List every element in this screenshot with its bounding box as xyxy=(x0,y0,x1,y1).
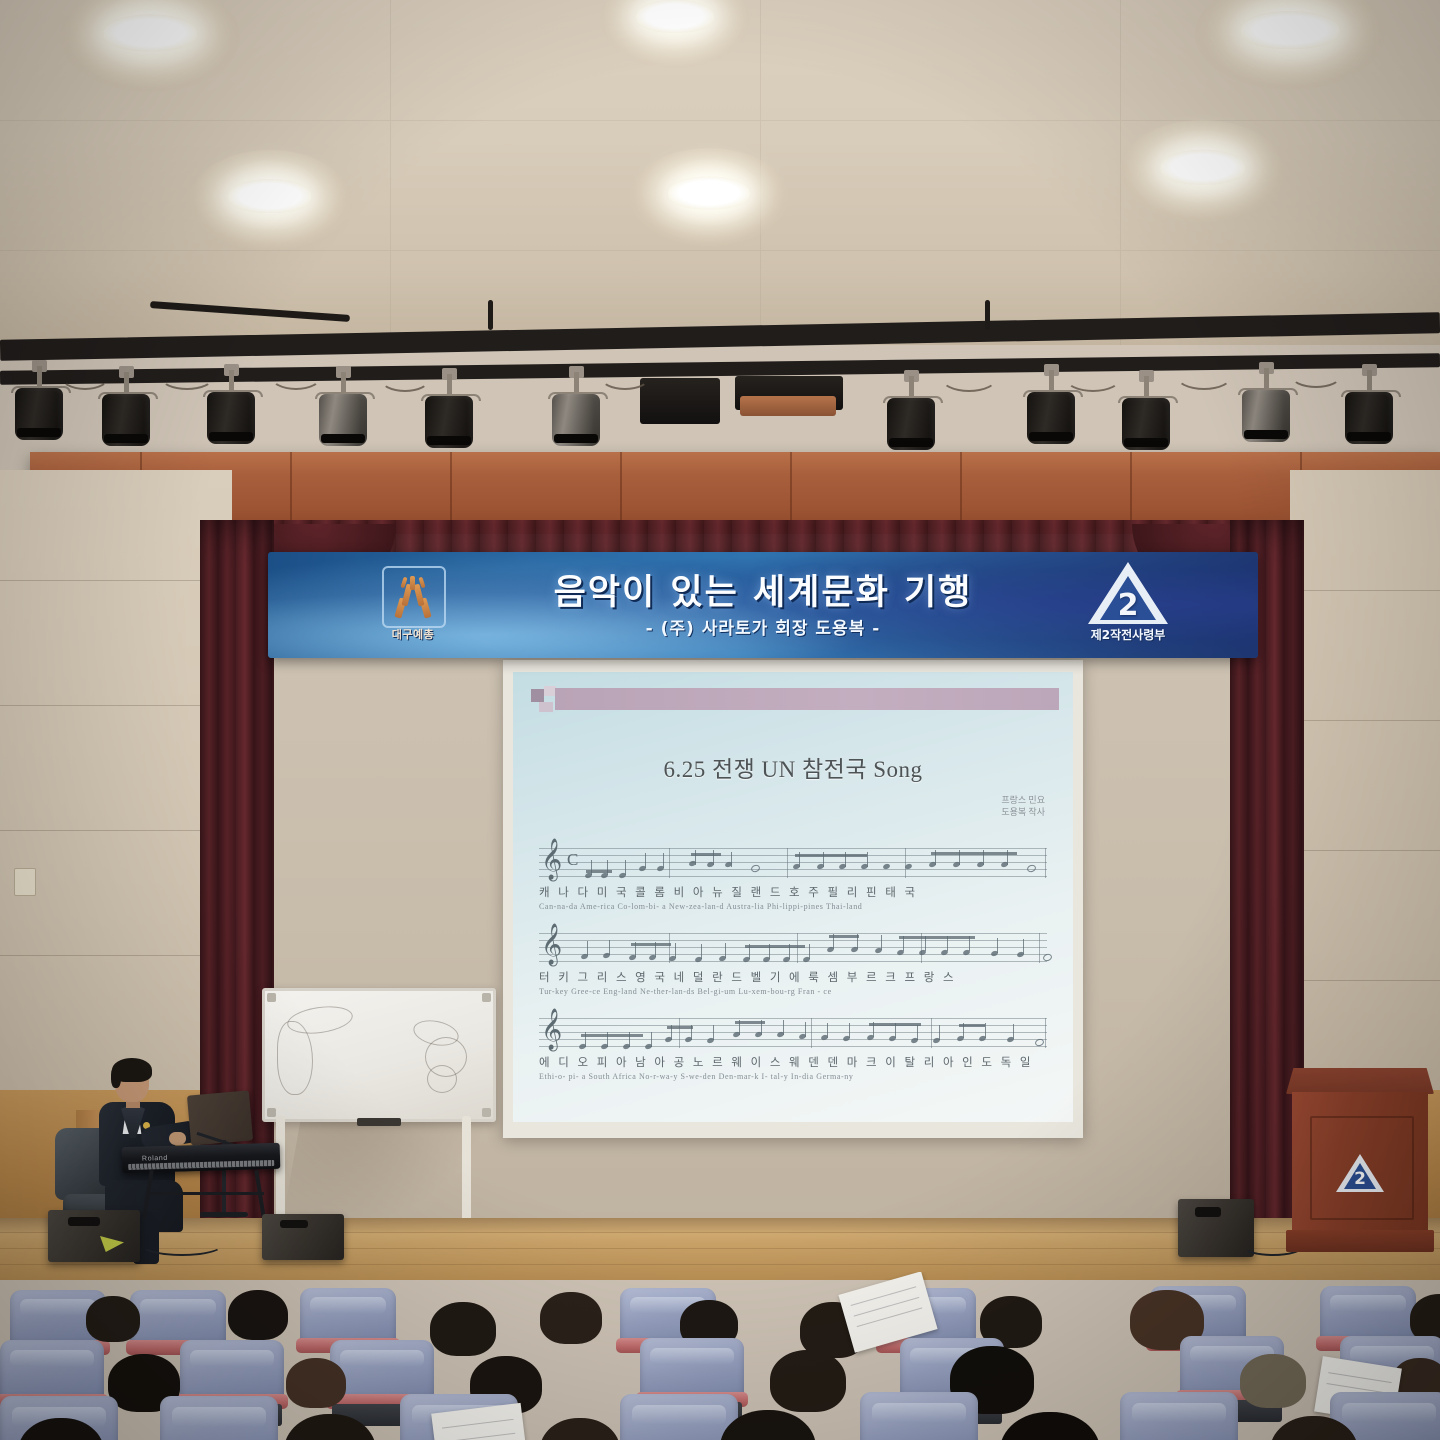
stage-monitor-speaker xyxy=(48,1210,140,1262)
treble-clef-icon: 𝄞 xyxy=(541,842,562,878)
light-cable xyxy=(600,364,650,390)
staff-3-lyrics-romanized: Ethi-o- pi- a South Africa No-r-wa-y S-w… xyxy=(539,1072,1047,1081)
audience-head xyxy=(228,1290,288,1340)
keyboard-brand-label: Roland xyxy=(142,1155,168,1163)
music-stand xyxy=(187,1090,253,1145)
staff-1-lyrics-korean: 캐 나 다 미 국 콜 롬 비 아 뉴 질 랜 드 호 주 필 리 핀 태 국 xyxy=(539,884,1047,900)
whiteboard-marker-tray xyxy=(357,1118,401,1126)
ceiling-conduit xyxy=(150,301,350,322)
slide-header-decoration xyxy=(531,686,1059,712)
staff-3-lyrics-korean: 에 디 오 피 아 남 아 공 노 르 웨 이 스 웨 덴 덴 마 크 이 탈 … xyxy=(539,1054,1047,1070)
auditorium-photo: 6.25 전쟁 UN 참전국 Song 프랑스 민요 도용복 작사 𝄞 C xyxy=(0,0,1440,1440)
keyboard-stand-brace xyxy=(146,1192,264,1195)
light-cable xyxy=(940,362,998,392)
audience-head xyxy=(540,1418,620,1440)
stage-par-light xyxy=(1115,376,1177,450)
ceiling-downlight xyxy=(630,148,788,246)
stage-fixture-box xyxy=(740,396,836,416)
treble-clef-icon: 𝄞 xyxy=(541,1012,562,1048)
performer-hand xyxy=(169,1132,186,1145)
music-stand-base xyxy=(200,1212,248,1217)
whiteboard-doodle xyxy=(427,1065,457,1093)
projection-screen: 6.25 전쟁 UN 참전국 Song 프랑스 민요 도용복 작사 𝄞 C xyxy=(503,660,1083,1138)
slide-title: 6.25 전쟁 UN 참전국 Song xyxy=(513,750,1073,784)
music-staff-3: 𝄞 xyxy=(539,1010,1047,1096)
stage-par-light xyxy=(312,372,374,446)
auditorium-seat[interactable] xyxy=(640,1338,744,1400)
music-staff-1: 𝄞 C xyxy=(539,840,1047,926)
auditorium-seat[interactable] xyxy=(0,1340,104,1402)
auditorium-seat[interactable] xyxy=(160,1396,278,1440)
auditorium-seat[interactable] xyxy=(1120,1392,1238,1440)
audience-head xyxy=(430,1302,496,1356)
light-cable xyxy=(1290,362,1342,388)
mobile-whiteboard[interactable] xyxy=(262,988,496,1122)
music-staff-2: 𝄞 xyxy=(539,925,1047,1011)
stage-fixture-box xyxy=(640,378,720,424)
staff-2-lyrics-korean: 터 키 그 리 스 영 국 네 덜 란 드 벨 기 에 룩 셈 부 르 크 프 … xyxy=(539,969,1047,985)
staff-2-lyrics-romanized: Tur-key Gree-ce Eng-land Ne-ther-lan-ds … xyxy=(539,987,1047,996)
auditorium-seat[interactable] xyxy=(180,1340,284,1402)
ceiling-hanger-rod xyxy=(985,300,990,330)
slide-credit-line-2: 도용복 작사 xyxy=(1001,806,1045,818)
speaker-logo-icon xyxy=(100,1236,124,1252)
whiteboard-stand-leg xyxy=(276,1116,285,1224)
audience-head xyxy=(86,1296,140,1342)
presentation-slide: 6.25 전쟁 UN 참전국 Song 프랑스 민요 도용복 작사 𝄞 C xyxy=(513,672,1073,1122)
roland-keyboard[interactable]: Roland xyxy=(122,1143,281,1173)
whiteboard-stand-leg xyxy=(462,1116,471,1224)
stage-monitor-speaker xyxy=(262,1214,344,1260)
stage-cable xyxy=(140,1232,224,1256)
stage-par-light xyxy=(545,372,607,446)
slide-credit: 프랑스 민요 도용복 작사 xyxy=(1001,794,1045,818)
second-operations-command-logo: 2 제2작전사령부 xyxy=(1078,562,1178,650)
stage-par-light xyxy=(1338,370,1400,444)
audience-head xyxy=(540,1292,602,1344)
audience-head xyxy=(770,1350,846,1412)
light-cable xyxy=(380,366,430,392)
event-banner: 대구예총 음악이 있는 세계문화 기행 - (주) 사라토가 회장 도용복 - … xyxy=(268,552,1258,658)
light-cable xyxy=(1175,360,1233,390)
light-cable xyxy=(270,362,322,390)
ceiling-downlight xyxy=(190,150,350,250)
stage-par-light xyxy=(418,374,480,448)
time-signature: C xyxy=(567,850,578,870)
auditorium-seat[interactable] xyxy=(620,1394,738,1440)
ceiling xyxy=(0,0,1440,345)
staff-lines xyxy=(539,1018,1047,1048)
audience-head xyxy=(286,1358,346,1408)
light-cable xyxy=(60,362,110,390)
ceiling-hanger-rod xyxy=(488,300,493,330)
podium-emblem-icon: 2 xyxy=(1336,1154,1384,1192)
truss-beam-upper xyxy=(0,312,1440,361)
light-cable xyxy=(160,364,214,390)
treble-clef-icon: 𝄞 xyxy=(541,927,562,963)
auditorium-seat[interactable] xyxy=(330,1340,434,1402)
emblem-number: 2 xyxy=(1078,588,1178,623)
audience-area xyxy=(0,1272,1440,1440)
speaking-podium[interactable]: 2 xyxy=(1286,1068,1434,1260)
staff-1-lyrics-romanized: Can-na-da Ame-rica Co-lom-bi- a New-zea-… xyxy=(539,902,1047,911)
audience-head xyxy=(1000,1412,1100,1440)
light-cable xyxy=(1065,364,1121,392)
audience-head xyxy=(1240,1354,1306,1408)
stage-par-light xyxy=(880,376,942,450)
command-caption: 제2작전사령부 xyxy=(1078,626,1178,643)
stage-par-light xyxy=(1235,368,1297,442)
slide-credit-line-1: 프랑스 민요 xyxy=(1001,794,1045,806)
lighting-truss-assembly xyxy=(0,300,1440,460)
podium-emblem-number: 2 xyxy=(1336,1169,1384,1189)
auditorium-seat[interactable] xyxy=(860,1392,978,1440)
wall-outlet xyxy=(14,868,36,896)
ceiling-downlight xyxy=(1120,120,1285,222)
auditorium-seat[interactable] xyxy=(300,1288,396,1346)
